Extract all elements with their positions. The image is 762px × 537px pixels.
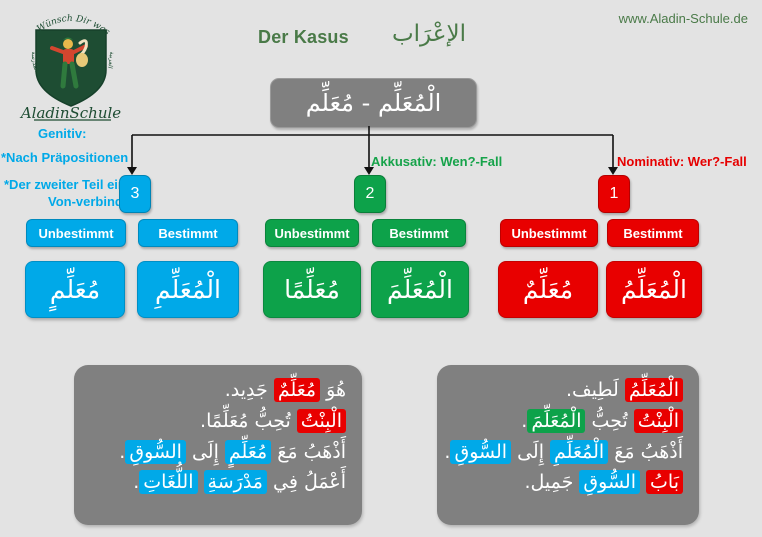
example-definite-highlight: الْبِنْتُ [634, 409, 683, 433]
word-nominativ-indefinite: مُعَلِّمٌ [498, 261, 598, 318]
example-definite-line: الْبِنْتُ تُحِبُّ الْمُعَلِّمَ. [453, 406, 683, 437]
example-indefinite-highlight: السُّوقِ [125, 440, 186, 464]
label-genitiv-line-1: *Nach Präpositionen [1, 150, 128, 165]
word-genitiv-indefinite: مُعَلِّمٍ [25, 261, 125, 318]
case-number-akkusativ: 2 [354, 175, 386, 213]
pill-nominativ-definite: Bestimmt [607, 219, 699, 247]
example-indefinite-line: أَذْهَبُ مَعَ مُعَلِّمٍ إِلَى السُّوقِ. [90, 437, 346, 468]
root-node: الْمُعَلِّم - مُعَلِّم [270, 78, 477, 128]
label-akkusativ: Akkusativ: Wen?-Fall [371, 154, 502, 169]
word-genitiv-definite: الْمُعَلِّمِ [137, 261, 239, 318]
word-akkusativ-indefinite: مُعَلِّمًا [263, 261, 361, 318]
example-definite-highlight: بَابُ [646, 470, 683, 494]
pill-akkusativ-indefinite: Unbestimmt [265, 219, 359, 247]
label-genitiv-title: Genitiv: [38, 126, 86, 141]
aladin-schule-logo: Wünsch Dir was! المدرسة العربية AladinSc… [16, 8, 126, 123]
example-definite-highlight: الْمُعَلِّمَ [527, 409, 585, 433]
example-indefinite-highlight: مَدْرَسَةِ [204, 470, 267, 494]
example-definite-line: أَذْهَبُ مَعَ الْمُعَلِّمِ إِلَى السُّوق… [453, 437, 683, 468]
example-indefinite-highlight: اللُّغَاتِ [139, 470, 197, 494]
page-title-ar: الإعْرَاب [392, 21, 466, 47]
example-indefinite-highlight: مُعَلِّمٌ [274, 378, 320, 402]
word-akkusativ-definite: الْمُعَلِّمَ [371, 261, 469, 318]
example-indefinite-line: الْبِنْتُ تُحِبُّ مُعَلِّمًا. [90, 406, 346, 437]
svg-text:AladinSchule: AladinSchule [19, 104, 121, 122]
label-nominativ: Nominativ: Wer?-Fall [617, 154, 747, 169]
kasus-diagram: Wünsch Dir was! المدرسة العربية AladinSc… [0, 0, 762, 537]
example-definite-highlight: الْمُعَلِّمُ [625, 378, 683, 402]
case-number-genitiv: 3 [119, 175, 151, 213]
examples-panel-indefinite: هُوَ مُعَلِّمٌ جَدِيد.الْبِنْتُ تُحِبُّ … [74, 365, 362, 525]
case-number-nominativ: 1 [598, 175, 630, 213]
example-indefinite-highlight: الْبِنْتُ [297, 409, 346, 433]
pill-genitiv-definite: Bestimmt [138, 219, 238, 247]
page-title-de: Der Kasus [258, 27, 349, 48]
site-url: www.Aladin-Schule.de [619, 11, 748, 26]
pill-nominativ-indefinite: Unbestimmt [500, 219, 598, 247]
example-definite-line: بَابُ السُّوقِ جَمِيل. [453, 467, 683, 498]
example-indefinite-highlight: مُعَلِّمٍ [225, 440, 271, 464]
examples-panel-definite: الْمُعَلِّمُ لَطِيف.الْبِنْتُ تُحِبُّ ال… [437, 365, 699, 525]
pill-genitiv-indefinite: Unbestimmt [26, 219, 126, 247]
root-node-word: الْمُعَلِّم - مُعَلِّم [306, 91, 442, 115]
example-definite-highlight: الْمُعَلِّمِ [550, 440, 608, 464]
example-definite-line: الْمُعَلِّمُ لَطِيف. [453, 375, 683, 406]
svg-text:العربية: العربية [106, 52, 115, 70]
example-definite-highlight: السُّوقِ [579, 470, 640, 494]
example-definite-highlight: السُّوقِ [450, 440, 511, 464]
example-indefinite-line: أَعْمَلُ فِي مَدْرَسَةِ اللُّغَاتِ. [90, 467, 346, 498]
word-nominativ-definite: الْمُعَلِّمُ [606, 261, 702, 318]
example-indefinite-line: هُوَ مُعَلِّمٌ جَدِيد. [90, 375, 346, 406]
pill-akkusativ-definite: Bestimmt [372, 219, 466, 247]
